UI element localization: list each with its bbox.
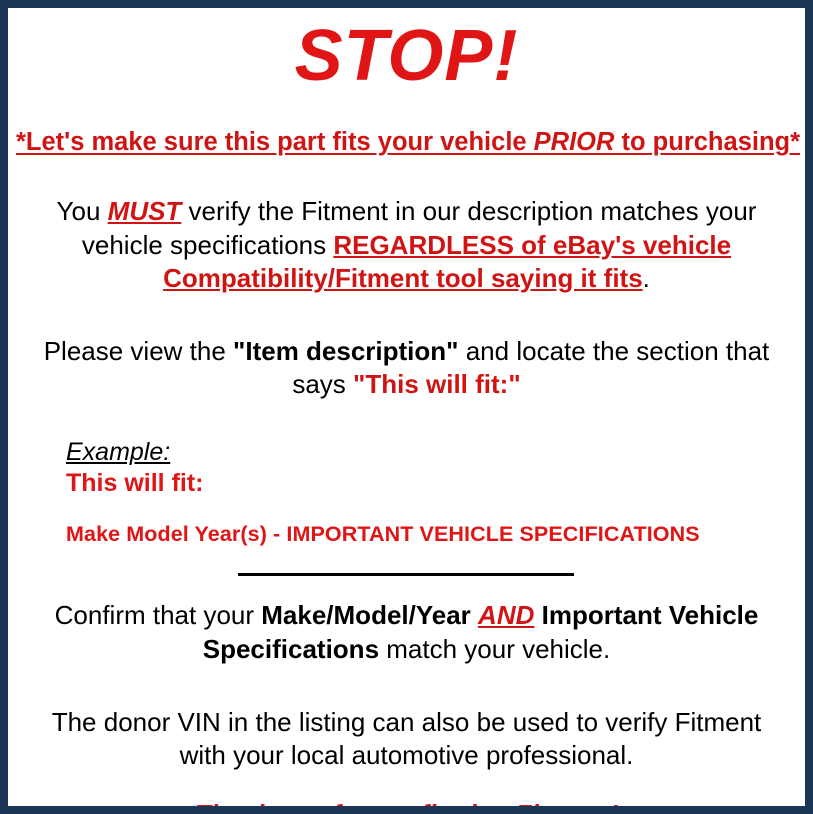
example-section: Example: This will fit: Make Model Year(… bbox=[16, 438, 797, 548]
subtitle-text-after: to purchasing* bbox=[614, 128, 800, 156]
confirm-paragraph: Confirm that your Make/Model/Year AND Im… bbox=[16, 599, 797, 666]
confirm-space-2 bbox=[534, 600, 541, 630]
fitment-notice-card: STOP! *Let's make sure this part fits yo… bbox=[0, 0, 813, 814]
this-will-fit-label: "This will fit:" bbox=[353, 369, 521, 399]
item-description-paragraph: Please view the "Item description" and l… bbox=[16, 335, 797, 402]
confirm-space-1 bbox=[471, 600, 478, 630]
section-divider bbox=[238, 573, 574, 576]
make-model-year-label: Make/Model/Year bbox=[261, 600, 471, 630]
subtitle-banner: *Let's make sure this part fits your veh… bbox=[16, 128, 797, 157]
thank-you-message: Thank you for confirming Fitment! bbox=[16, 799, 797, 814]
subtitle-text-before: *Let's make sure this part fits your veh… bbox=[16, 128, 534, 156]
confirm-text-1: Confirm that your bbox=[55, 600, 262, 630]
must-text-1: You bbox=[57, 196, 108, 226]
item-description-label: "Item description" bbox=[233, 336, 458, 366]
example-spec-line: Make Model Year(s) - IMPORTANT VEHICLE S… bbox=[66, 522, 797, 548]
page-title: STOP! bbox=[16, 20, 797, 92]
must-emphasis: MUST bbox=[108, 196, 182, 226]
example-fit-heading: This will fit: bbox=[66, 468, 797, 498]
donor-vin-paragraph: The donor VIN in the listing can also be… bbox=[16, 706, 797, 773]
notice-content: STOP! *Let's make sure this part fits yo… bbox=[8, 20, 805, 814]
and-emphasis: AND bbox=[478, 600, 534, 630]
divider-wrapper bbox=[16, 569, 797, 581]
subtitle-emphasis-prior: PRIOR bbox=[534, 128, 615, 156]
example-label: Example: bbox=[66, 438, 797, 466]
must-text-3: . bbox=[643, 263, 650, 293]
desc-text-1: Please view the bbox=[44, 336, 233, 366]
confirm-text-2: match your vehicle. bbox=[379, 634, 610, 664]
must-verify-paragraph: You MUST verify the Fitment in our descr… bbox=[16, 195, 797, 295]
